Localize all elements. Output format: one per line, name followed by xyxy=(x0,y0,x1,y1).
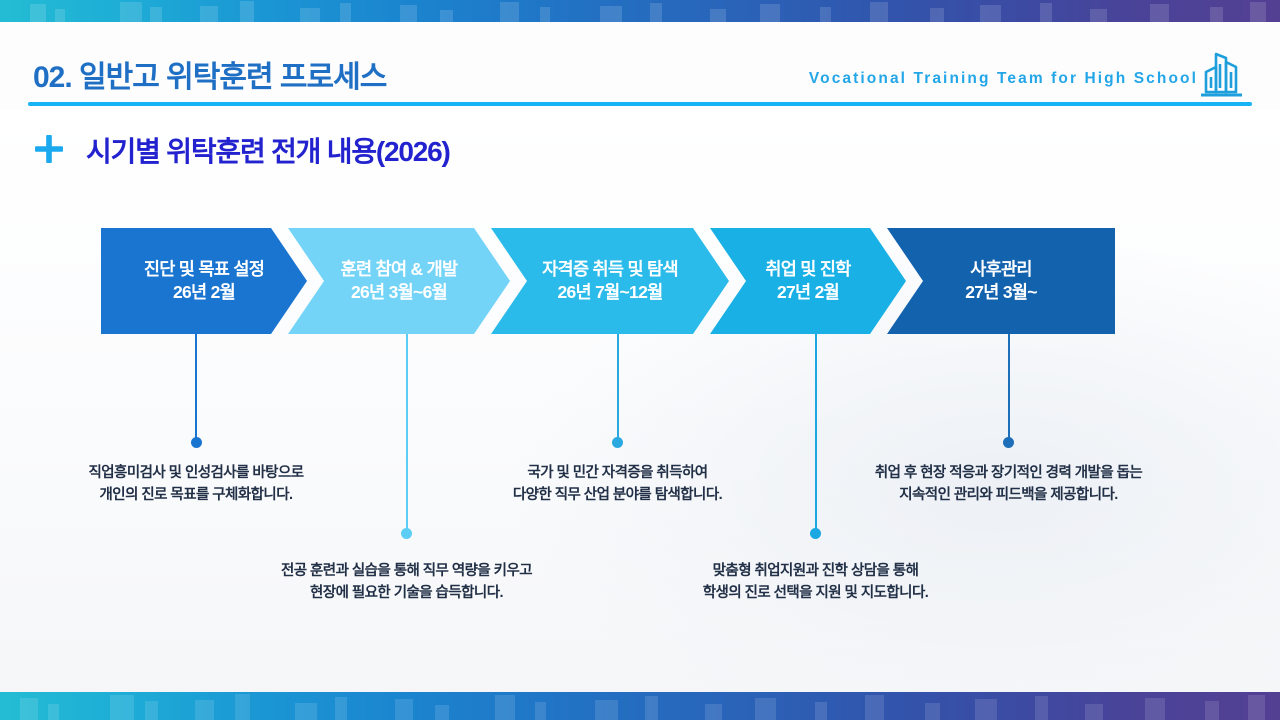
process-step-period: 27년 2월 xyxy=(777,281,839,304)
world-map-background xyxy=(0,120,1280,700)
process-step-period: 26년 3월~6월 xyxy=(351,281,447,304)
process-step-4[interactable]: 취업 및 진학27년 2월 xyxy=(710,228,906,334)
section-title: 시기별 위탁훈련 전개 내용(2026) xyxy=(86,130,450,170)
description-line-1: 맞춤형 취업지원과 진학 상담을 통해 xyxy=(703,560,929,582)
description-line-1: 국가 및 민간 자격증을 취득하여 xyxy=(513,462,722,484)
top-strip-city-texture xyxy=(0,0,1280,22)
process-step-description-2: 전공 훈련과 실습을 통해 직무 역량을 키우고현장에 필요한 기술을 습득합니… xyxy=(281,560,532,604)
process-step-description-4: 맞춤형 취업지원과 진학 상담을 통해학생의 진로 선택을 지원 및 지도합니다… xyxy=(703,560,929,604)
slide-canvas: 02. 일반고 위탁훈련 프로세스 Vocational Training Te… xyxy=(0,0,1280,720)
description-line-2: 지속적인 관리와 피드백을 제공합니다. xyxy=(875,484,1142,506)
process-step-description-1: 직업흥미검사 및 인성검사를 바탕으로개인의 진로 목표를 구체화합니다. xyxy=(88,462,303,506)
connector-line-4 xyxy=(815,334,817,532)
description-line-2: 현장에 필요한 기술을 습득합니다. xyxy=(281,582,532,604)
plus-icon xyxy=(33,133,65,165)
connector-line-5 xyxy=(1008,334,1010,441)
process-chevron-row: 진단 및 목표 설정26년 2월훈련 참여 & 개발26년 3월~6월자격증 취… xyxy=(101,228,1166,334)
process-step-title: 사후관리 xyxy=(970,258,1032,281)
process-step-description-3: 국가 및 민간 자격증을 취득하여다양한 직무 산업 분야를 탐색합니다. xyxy=(513,462,722,506)
network-lines-background xyxy=(0,120,1280,720)
connector-line-1 xyxy=(195,334,197,441)
top-accent-strip xyxy=(0,0,1280,22)
process-step-3[interactable]: 자격증 취득 및 탐색26년 7월~12월 xyxy=(491,228,729,334)
bottom-accent-strip xyxy=(0,692,1280,720)
building-skyline-icon xyxy=(1194,50,1248,100)
description-line-1: 전공 훈련과 실습을 통해 직무 역량을 키우고 xyxy=(281,560,532,582)
description-line-2: 개인의 진로 목표를 구체화합니다. xyxy=(88,484,303,506)
connector-dot-2 xyxy=(401,528,412,539)
bottom-strip-city-texture xyxy=(0,692,1280,720)
process-step-title: 훈련 참여 & 개발 xyxy=(341,258,458,281)
description-line-1: 취업 후 현장 적응과 장기적인 경력 개발을 돕는 xyxy=(875,462,1142,484)
process-step-title: 취업 및 진학 xyxy=(765,258,850,281)
process-step-2[interactable]: 훈련 참여 & 개발26년 3월~6월 xyxy=(288,228,510,334)
connector-dot-1 xyxy=(191,437,202,448)
process-step-description-5: 취업 후 현장 적응과 장기적인 경력 개발을 돕는지속적인 관리와 피드백을 … xyxy=(875,462,1142,506)
process-step-title: 자격증 취득 및 탐색 xyxy=(542,258,678,281)
header-tagline: Vocational Training Team for High School xyxy=(809,70,1198,88)
header-divider xyxy=(28,102,1252,106)
process-step-period: 26년 2월 xyxy=(173,281,235,304)
connector-line-2 xyxy=(406,334,408,532)
process-step-1[interactable]: 진단 및 목표 설정26년 2월 xyxy=(101,228,307,334)
process-step-5[interactable]: 사후관리27년 3월~ xyxy=(887,228,1115,334)
connector-dot-4 xyxy=(810,528,821,539)
description-line-2: 다양한 직무 산업 분야를 탐색합니다. xyxy=(513,484,722,506)
connector-line-3 xyxy=(617,334,619,441)
connector-dot-3 xyxy=(612,437,623,448)
page-title: 02. 일반고 위탁훈련 프로세스 xyxy=(33,52,386,96)
process-step-period: 26년 7월~12월 xyxy=(557,281,662,304)
background-wash xyxy=(0,110,1280,720)
process-step-title: 진단 및 목표 설정 xyxy=(144,258,264,281)
description-line-1: 직업흥미검사 및 인성검사를 바탕으로 xyxy=(88,462,303,484)
process-step-period: 27년 3월~ xyxy=(965,281,1037,304)
description-line-2: 학생의 진로 선택을 지원 및 지도합니다. xyxy=(703,582,929,604)
connector-dot-5 xyxy=(1003,437,1014,448)
